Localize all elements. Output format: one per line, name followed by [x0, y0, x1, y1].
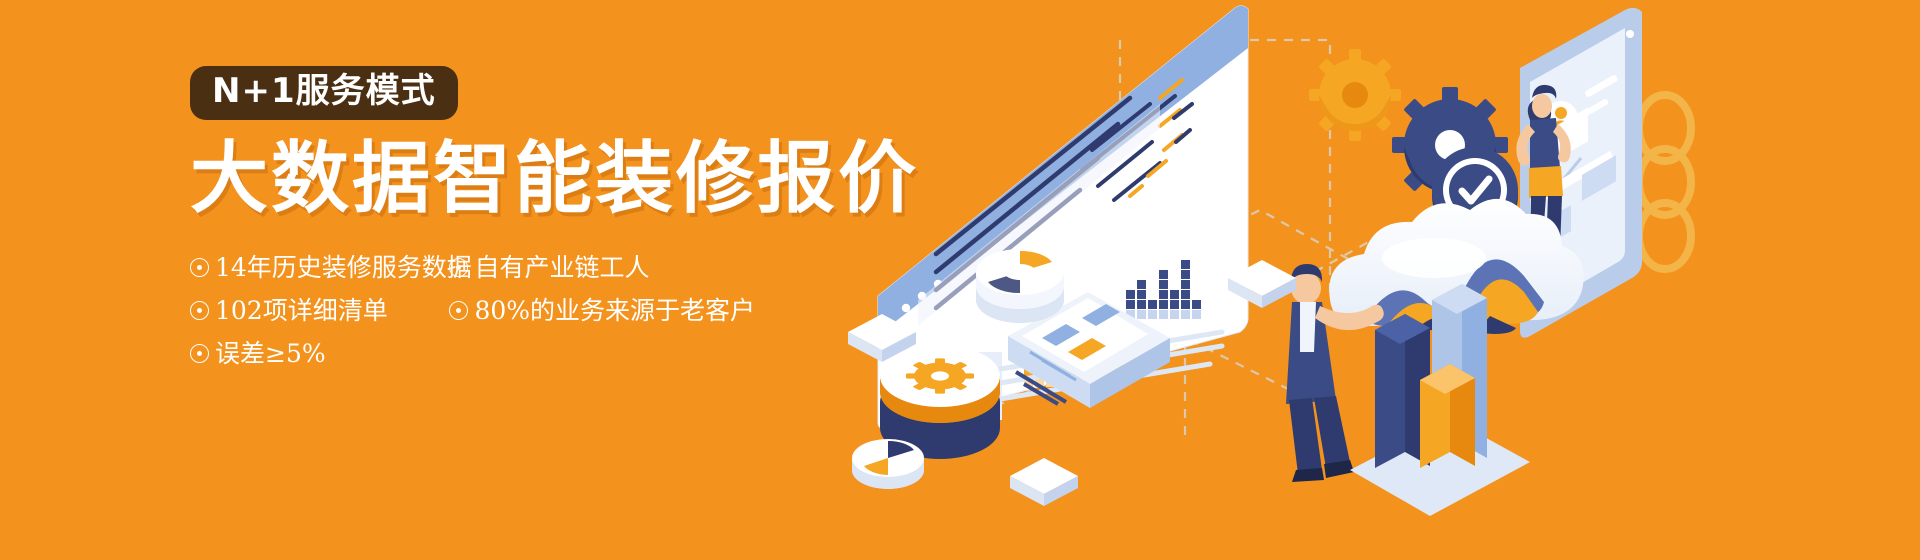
feature-list: 14年历史装修服务数据 102项详细清单 误差≥5% 自有产业链工人 — [190, 246, 810, 375]
list-item: 自有产业链工人 — [449, 246, 779, 289]
page-title: 大数据智能装修报价 — [190, 138, 890, 221]
feature-column-right: 自有产业链工人 80%的业务来源于老客户 — [449, 246, 779, 332]
list-item-label: 14年历史装修服务数据 — [215, 246, 472, 289]
coin-stack — [976, 249, 1064, 323]
tile-icon — [1010, 458, 1078, 506]
list-item: 80%的业务来源于老客户 — [449, 289, 779, 332]
coin-stack — [852, 439, 924, 489]
gear-orange-icon — [1309, 49, 1401, 141]
list-item: 14年历史装修服务数据 — [190, 246, 445, 289]
circle-dot-icon — [449, 258, 468, 277]
list-item: 误差≥5% — [190, 332, 445, 375]
service-model-badge: N+1服务模式 — [190, 66, 458, 120]
gear-orange-icon — [906, 358, 974, 393]
ring-stack-icon — [1639, 95, 1691, 269]
promo-banner: N+1服务模式 大数据智能装修报价 14年历史装修服务数据 102项详细清单 误… — [0, 0, 1920, 560]
banner-copy: N+1服务模式 大数据智能装修报价 14年历史装修服务数据 102项详细清单 误… — [190, 66, 890, 375]
list-item: 102项详细清单 — [190, 289, 445, 332]
circle-dot-icon — [190, 301, 209, 320]
list-item-label: 80%的业务来源于老客户 — [474, 289, 755, 332]
circle-dot-icon — [190, 258, 209, 277]
list-item-label: 102项详细清单 — [215, 289, 388, 332]
list-item-label: 误差≥5% — [215, 332, 326, 375]
circle-dot-icon — [190, 344, 209, 363]
isometric-illustration — [830, 0, 1920, 560]
list-item-label: 自有产业链工人 — [474, 246, 649, 289]
circle-dot-icon — [449, 301, 468, 320]
feature-column-left: 14年历史装修服务数据 102项详细清单 误差≥5% — [190, 246, 445, 375]
